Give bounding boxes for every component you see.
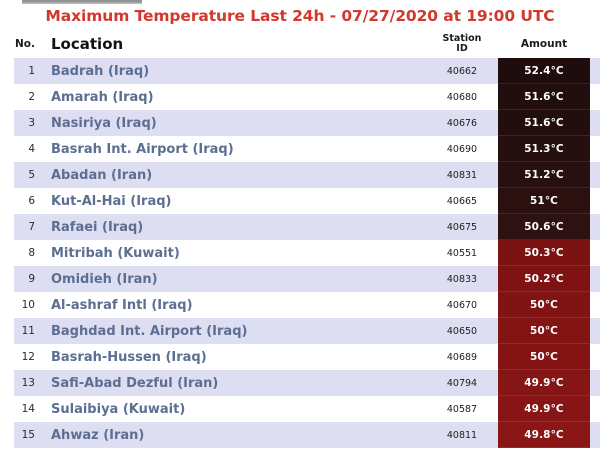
header-label-amount: Amount [521, 38, 567, 50]
table-row[interactable]: 6Kut-Al-Hai (Iraq)4066551°C [0, 188, 600, 214]
cell-location[interactable]: Kut-Al-Hai (Iraq) [42, 188, 426, 214]
table-body: 1Badrah (Iraq)4066252.4°C2Amarah (Iraq)4… [0, 58, 600, 448]
cell-rank: 5 [0, 162, 42, 188]
rank-value: 9 [28, 273, 35, 285]
cell-amount: 51.3°C [498, 136, 590, 162]
location-value: Al-ashraf Intl (Iraq) [51, 298, 193, 313]
header-label-location: Location [51, 35, 123, 53]
cell-rank: 13 [0, 370, 42, 396]
cell-location[interactable]: Safi-Abad Dezful (Iran) [42, 370, 426, 396]
cell-station-id: 40831 [426, 162, 498, 188]
table-row[interactable]: 10Al-ashraf Intl (Iraq)4067050°C [0, 292, 600, 318]
header-cell-location: Location [42, 30, 426, 58]
cell-station-id: 40670 [426, 292, 498, 318]
station-id-value: 40587 [447, 404, 477, 415]
station-id-value: 40680 [447, 92, 477, 103]
rank-value: 1 [28, 65, 35, 77]
amount-value: 51.6°C [524, 117, 563, 129]
cell-location[interactable]: Basrah Int. Airport (Iraq) [42, 136, 426, 162]
cell-station-id: 40587 [426, 396, 498, 422]
amount-value: 51.3°C [524, 143, 563, 155]
cell-location[interactable]: Al-ashraf Intl (Iraq) [42, 292, 426, 318]
rank-value: 12 [22, 351, 35, 363]
page-title: Maximum Temperature Last 24h - 07/27/202… [0, 7, 600, 25]
cell-amount: 49.8°C [498, 422, 590, 448]
rank-value: 10 [22, 299, 35, 311]
cell-station-id: 40689 [426, 344, 498, 370]
amount-value: 51.2°C [524, 169, 563, 181]
location-value: Rafaei (Iraq) [51, 220, 143, 235]
cell-rank: 14 [0, 396, 42, 422]
location-value: Basrah-Hussen (Iraq) [51, 350, 207, 365]
location-value: Amarah (Iraq) [51, 90, 154, 105]
cell-amount: 50.2°C [498, 266, 590, 292]
cell-rank: 15 [0, 422, 42, 448]
amount-value: 50°C [530, 325, 558, 337]
header-cell-amount: Amount [498, 30, 590, 58]
temperature-table: No. Location StationID Amount 1Badrah (I… [0, 30, 600, 448]
cropped-toolbar-sliver [22, 0, 142, 4]
table-row[interactable]: 1Badrah (Iraq)4066252.4°C [0, 58, 600, 84]
cell-rank: 3 [0, 110, 42, 136]
table-header-row: No. Location StationID Amount [0, 30, 600, 58]
cell-station-id: 40690 [426, 136, 498, 162]
rank-value: 7 [28, 221, 35, 233]
location-value: Nasiriya (Iraq) [51, 116, 157, 131]
amount-value: 50.3°C [524, 247, 563, 259]
amount-value: 49.9°C [524, 403, 563, 415]
cell-location[interactable]: Ahwaz (Iran) [42, 422, 426, 448]
station-id-value: 40831 [447, 170, 477, 181]
cell-station-id: 40662 [426, 58, 498, 84]
cell-station-id: 40680 [426, 84, 498, 110]
cell-station-id: 40794 [426, 370, 498, 396]
rank-value: 13 [22, 377, 35, 389]
amount-value: 50.2°C [524, 273, 563, 285]
table-row[interactable]: 12Basrah-Hussen (Iraq)4068950°C [0, 344, 600, 370]
cell-rank: 2 [0, 84, 42, 110]
location-value: Baghdad Int. Airport (Iraq) [51, 324, 247, 339]
cell-rank: 10 [0, 292, 42, 318]
cell-amount: 50.6°C [498, 214, 590, 240]
cell-amount: 51.2°C [498, 162, 590, 188]
rank-value: 5 [28, 169, 35, 181]
cell-amount: 49.9°C [498, 396, 590, 422]
location-value: Sulaibiya (Kuwait) [51, 402, 185, 417]
amount-value: 50°C [530, 299, 558, 311]
amount-value: 50°C [530, 351, 558, 363]
table-row[interactable]: 13Safi-Abad Dezful (Iran)4079449.9°C [0, 370, 600, 396]
station-id-value: 40794 [447, 378, 477, 389]
table-row[interactable]: 15Ahwaz (Iran)4081149.8°C [0, 422, 600, 448]
rank-value: 3 [28, 117, 35, 129]
cell-location[interactable]: Rafaei (Iraq) [42, 214, 426, 240]
cell-station-id: 40676 [426, 110, 498, 136]
station-id-value: 40665 [447, 196, 477, 207]
cell-amount: 49.9°C [498, 370, 590, 396]
cell-amount: 50°C [498, 292, 590, 318]
rank-value: 8 [28, 247, 35, 259]
cell-station-id: 40811 [426, 422, 498, 448]
table-row[interactable]: 8Mitribah (Kuwait)4055150.3°C [0, 240, 600, 266]
cell-rank: 12 [0, 344, 42, 370]
rank-value: 11 [22, 325, 35, 337]
rank-value: 14 [22, 403, 35, 415]
location-value: Basrah Int. Airport (Iraq) [51, 142, 234, 157]
cell-rank: 4 [0, 136, 42, 162]
cell-location[interactable]: Baghdad Int. Airport (Iraq) [42, 318, 426, 344]
cell-amount: 50°C [498, 318, 590, 344]
header-label-no: No. [15, 38, 35, 51]
cell-location[interactable]: Amarah (Iraq) [42, 84, 426, 110]
amount-value: 49.8°C [524, 429, 563, 441]
location-value: Mitribah (Kuwait) [51, 246, 180, 261]
cell-location[interactable]: Omidieh (Iran) [42, 266, 426, 292]
table-row[interactable]: 9Omidieh (Iran)4083350.2°C [0, 266, 600, 292]
location-value: Safi-Abad Dezful (Iran) [51, 376, 218, 391]
location-value: Badrah (Iraq) [51, 64, 149, 79]
cell-location[interactable]: Abadan (Iran) [42, 162, 426, 188]
cell-location[interactable]: Nasiriya (Iraq) [42, 110, 426, 136]
table-row[interactable]: 7Rafaei (Iraq)4067550.6°C [0, 214, 600, 240]
cell-location[interactable]: Badrah (Iraq) [42, 58, 426, 84]
amount-value: 52.4°C [524, 65, 563, 77]
amount-value: 49.9°C [524, 377, 563, 389]
cell-location[interactable]: Mitribah (Kuwait) [42, 240, 426, 266]
location-value: Kut-Al-Hai (Iraq) [51, 194, 171, 209]
cell-station-id: 40675 [426, 214, 498, 240]
station-id-value: 40650 [447, 326, 477, 337]
table-row[interactable]: 11Baghdad Int. Airport (Iraq)4065050°C [0, 318, 600, 344]
cell-station-id: 40833 [426, 266, 498, 292]
station-id-value: 40690 [447, 144, 477, 155]
cell-amount: 52.4°C [498, 58, 590, 84]
station-id-value: 40675 [447, 222, 477, 233]
cell-rank: 11 [0, 318, 42, 344]
cell-location[interactable]: Sulaibiya (Kuwait) [42, 396, 426, 422]
location-value: Ahwaz (Iran) [51, 428, 144, 443]
cell-amount: 51.6°C [498, 110, 590, 136]
cell-station-id: 40551 [426, 240, 498, 266]
header-cell-station-id: StationID [426, 30, 498, 58]
location-value: Omidieh (Iran) [51, 272, 158, 287]
header-label-station-id-line1: Station [443, 33, 482, 44]
station-id-value: 40551 [447, 248, 477, 259]
amount-value: 51°C [530, 195, 558, 207]
cell-location[interactable]: Basrah-Hussen (Iraq) [42, 344, 426, 370]
rank-value: 2 [28, 91, 35, 103]
cell-rank: 6 [0, 188, 42, 214]
temperature-ranking-page: Maximum Temperature Last 24h - 07/27/202… [0, 0, 600, 451]
station-id-value: 40833 [447, 274, 477, 285]
cell-amount: 51.6°C [498, 84, 590, 110]
rank-value: 4 [28, 143, 35, 155]
amount-value: 51.6°C [524, 91, 563, 103]
cell-rank: 8 [0, 240, 42, 266]
rank-value: 6 [28, 195, 35, 207]
header-label-station-id-line2: ID [456, 43, 467, 54]
table-row[interactable]: 2Amarah (Iraq)4068051.6°C [0, 84, 600, 110]
station-id-value: 40811 [447, 430, 477, 441]
station-id-value: 40689 [447, 352, 477, 363]
rank-value: 15 [22, 429, 35, 441]
cell-amount: 50°C [498, 344, 590, 370]
cell-rank: 7 [0, 214, 42, 240]
station-id-value: 40676 [447, 118, 477, 129]
station-id-value: 40662 [447, 66, 477, 77]
table-row[interactable]: 5Abadan (Iran)4083151.2°C [0, 162, 600, 188]
cell-amount: 50.3°C [498, 240, 590, 266]
station-id-value: 40670 [447, 300, 477, 311]
table-row[interactable]: 14Sulaibiya (Kuwait)4058749.9°C [0, 396, 600, 422]
header-label-station-id: StationID [443, 34, 482, 55]
cell-rank: 9 [0, 266, 42, 292]
cell-station-id: 40650 [426, 318, 498, 344]
cell-amount: 51°C [498, 188, 590, 214]
cell-station-id: 40665 [426, 188, 498, 214]
cell-rank: 1 [0, 58, 42, 84]
amount-value: 50.6°C [524, 221, 563, 233]
location-value: Abadan (Iran) [51, 168, 152, 183]
table-row[interactable]: 4Basrah Int. Airport (Iraq)4069051.3°C [0, 136, 600, 162]
table-row[interactable]: 3Nasiriya (Iraq)4067651.6°C [0, 110, 600, 136]
header-cell-no: No. [0, 30, 42, 58]
